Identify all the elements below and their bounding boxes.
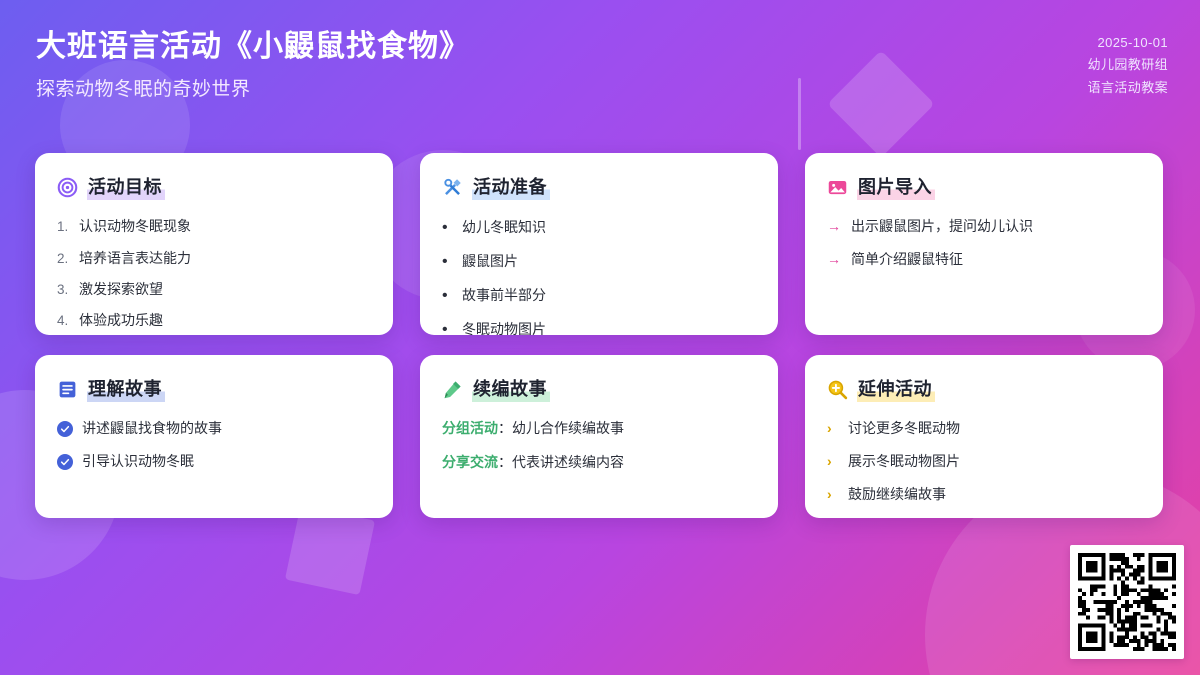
list-item: 2. 培养语言表达能力 <box>57 248 371 269</box>
list-marker: › <box>827 484 841 505</box>
list-item: 4. 体验成功乐趣 <box>57 310 371 331</box>
list-text: 认识动物冬眠现象 <box>79 216 371 237</box>
card-header: 图片导入 <box>827 175 1141 200</box>
list-marker: › <box>827 451 841 472</box>
header-meta: 2025-10-01 幼儿园教研组 语言活动教案 <box>1088 32 1168 99</box>
card-body: 讲述鼹鼠找食物的故事 引导认识动物冬眠 <box>57 418 371 472</box>
list-text: 体验成功乐趣 <box>79 310 371 331</box>
list-text: 简单介绍鼹鼠特征 <box>851 249 1141 270</box>
list-item: 分享交流：代表讲述续编内容 <box>442 452 756 473</box>
list-marker: → <box>827 216 844 237</box>
list-item: • 故事前半部分 <box>442 284 756 308</box>
list-text: 代表讲述续编内容 <box>512 454 624 470</box>
list-text: 故事前半部分 <box>462 285 756 306</box>
list-text: 引导认识动物冬眠 <box>82 451 371 472</box>
card-header: 续编故事 <box>442 377 756 402</box>
card-title: 活动准备 <box>472 175 550 200</box>
check-circle-icon <box>57 454 73 470</box>
list-item: • 鼹鼠图片 <box>442 250 756 274</box>
list-item: • 幼儿冬眠知识 <box>442 216 756 240</box>
card-body: → 出示鼹鼠图片，提问幼儿认识 → 简单介绍鼹鼠特征 <box>827 216 1141 270</box>
book-icon <box>57 379 78 400</box>
list-item: 分组活动：幼儿合作续编故事 <box>442 418 756 439</box>
list-marker: 2. <box>57 249 72 269</box>
image-icon <box>827 177 848 198</box>
card-title: 活动目标 <box>87 175 165 200</box>
list-text: 鼹鼠图片 <box>462 251 756 272</box>
list-text: 激发探索欲望 <box>79 279 371 300</box>
meta-date: 2025-10-01 <box>1088 32 1168 54</box>
pencil-icon <box>442 379 463 400</box>
list-text: 冬眠动物图片 <box>462 319 756 335</box>
list-marker: • <box>442 284 455 308</box>
card-grid: 活动目标 1. 认识动物冬眠现象 2. 培养语言表达能力 3. 激发探索欲望 4… <box>35 153 1165 518</box>
list-item-separator: ： <box>498 420 512 436</box>
list-item-label: 分享交流 <box>442 454 498 470</box>
list-marker: 4. <box>57 311 72 331</box>
card-picture-intro[interactable]: 图片导入 → 出示鼹鼠图片，提问幼儿认识 → 简单介绍鼹鼠特征 <box>805 153 1163 335</box>
list-item: → 出示鼹鼠图片，提问幼儿认识 <box>827 216 1141 237</box>
list-marker: 3. <box>57 280 72 300</box>
list-item: 3. 激发探索欲望 <box>57 279 371 300</box>
card-body: • 幼儿冬眠知识 • 鼹鼠图片 • 故事前半部分 • 冬眠动物图片 <box>442 216 756 335</box>
card-activity-goals[interactable]: 活动目标 1. 认识动物冬眠现象 2. 培养语言表达能力 3. 激发探索欲望 4… <box>35 153 393 335</box>
meta-organization: 幼儿园教研组 <box>1088 54 1168 76</box>
tools-icon <box>442 177 463 198</box>
card-continue-story[interactable]: 续编故事 分组活动：幼儿合作续编故事 分享交流：代表讲述续编内容 <box>420 355 778 518</box>
check-circle-icon <box>57 421 73 437</box>
list-item: 1. 认识动物冬眠现象 <box>57 216 371 237</box>
card-understand-story[interactable]: 理解故事 讲述鼹鼠找食物的故事 引导认识动物冬眠 <box>35 355 393 518</box>
card-title: 理解故事 <box>87 377 165 402</box>
list-text: 鼓励继续编故事 <box>848 484 1141 505</box>
list-marker: • <box>442 250 455 274</box>
list-item: › 展示冬眠动物图片 <box>827 451 1141 472</box>
card-title: 延伸活动 <box>857 377 935 402</box>
card-header: 理解故事 <box>57 377 371 402</box>
list-marker: 1. <box>57 217 72 237</box>
target-icon <box>57 177 78 198</box>
slide-header: 大班语言活动《小鼹鼠找食物》 探索动物冬眠的奇妙世界 2025-10-01 幼儿… <box>0 0 1200 150</box>
list-item-label: 分组活动 <box>442 420 498 436</box>
meta-doc-type: 语言活动教案 <box>1088 77 1168 99</box>
card-extension-activity[interactable]: 延伸活动 › 讨论更多冬眠动物 › 展示冬眠动物图片 › 鼓励继续编故事 <box>805 355 1163 518</box>
list-item: › 鼓励继续编故事 <box>827 484 1141 505</box>
card-activity-preparation[interactable]: 活动准备 • 幼儿冬眠知识 • 鼹鼠图片 • 故事前半部分 • 冬眠动物图片 <box>420 153 778 335</box>
list-marker: › <box>827 418 841 439</box>
title-block: 大班语言活动《小鼹鼠找食物》 探索动物冬眠的奇妙世界 <box>36 28 470 101</box>
list-item: › 讨论更多冬眠动物 <box>827 418 1141 439</box>
zoom-in-icon <box>827 379 848 400</box>
list-marker: • <box>442 216 455 240</box>
list-marker: → <box>827 249 844 270</box>
list-item: 讲述鼹鼠找食物的故事 <box>57 418 371 439</box>
qr-code[interactable] <box>1070 545 1184 659</box>
list-item: • 冬眠动物图片 <box>442 318 756 335</box>
list-text: 幼儿合作续编故事 <box>512 420 624 436</box>
card-title: 图片导入 <box>857 175 935 200</box>
card-body: 分组活动：幼儿合作续编故事 分享交流：代表讲述续编内容 <box>442 418 756 486</box>
list-marker: • <box>442 318 455 335</box>
list-text: 出示鼹鼠图片，提问幼儿认识 <box>851 216 1141 237</box>
slide-canvas: 大班语言活动《小鼹鼠找食物》 探索动物冬眠的奇妙世界 2025-10-01 幼儿… <box>0 0 1200 675</box>
list-text: 展示冬眠动物图片 <box>848 451 1141 472</box>
card-body: 1. 认识动物冬眠现象 2. 培养语言表达能力 3. 激发探索欲望 4. 体验成… <box>57 216 371 331</box>
card-header: 活动目标 <box>57 175 371 200</box>
list-text: 讨论更多冬眠动物 <box>848 418 1141 439</box>
decor-square <box>285 505 375 595</box>
card-header: 延伸活动 <box>827 377 1141 402</box>
card-body: › 讨论更多冬眠动物 › 展示冬眠动物图片 › 鼓励继续编故事 <box>827 418 1141 505</box>
page-title: 大班语言活动《小鼹鼠找食物》 <box>36 28 470 66</box>
list-item-separator: ： <box>498 454 512 470</box>
qr-code-image <box>1078 553 1176 651</box>
card-header: 活动准备 <box>442 175 756 200</box>
list-item: → 简单介绍鼹鼠特征 <box>827 249 1141 270</box>
list-text: 幼儿冬眠知识 <box>462 217 756 238</box>
card-title: 续编故事 <box>472 377 550 402</box>
list-item: 引导认识动物冬眠 <box>57 451 371 472</box>
page-subtitle: 探索动物冬眠的奇妙世界 <box>36 74 470 101</box>
list-text: 培养语言表达能力 <box>79 248 371 269</box>
list-text: 讲述鼹鼠找食物的故事 <box>82 418 371 439</box>
